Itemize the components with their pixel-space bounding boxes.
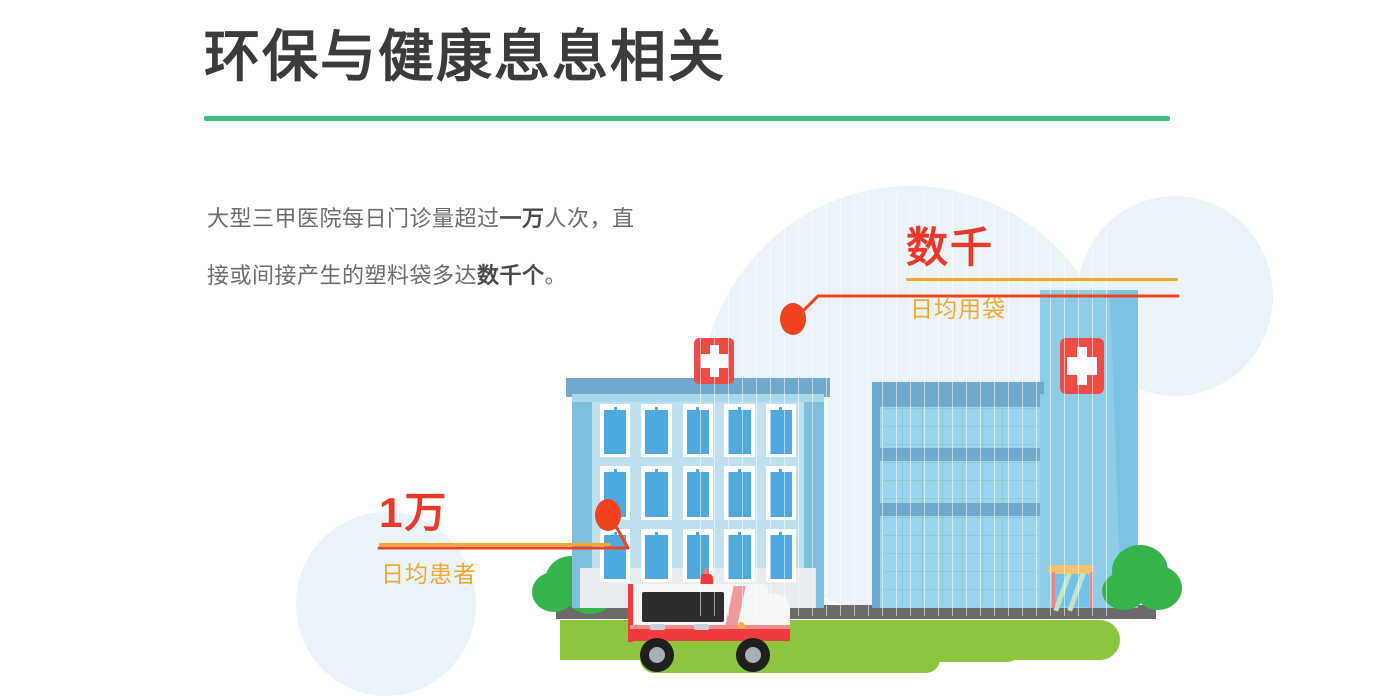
ambulance-door-handle [650,624,665,630]
window [641,466,671,519]
hospital-illustration [0,0,1400,700]
tower-canopy-post [1090,572,1093,608]
annex-glass-row [882,408,1038,448]
window [724,404,754,457]
red-cross-icon [1060,338,1104,394]
annex-floor-band [880,503,1040,516]
callout-value: 数千 [906,227,1178,269]
window [683,404,713,457]
ambulance-door-handle [694,624,709,630]
callout-value: 1万 [379,492,611,534]
annex-glass-row [882,517,1038,605]
window [724,466,754,519]
window [766,404,796,457]
ambulance-window [642,592,724,622]
window [600,404,630,457]
tower-canopy-post [1052,572,1055,608]
annex-glass-row [882,462,1038,503]
ambulance-wheel [736,638,770,672]
red-cross-icon [694,338,734,384]
callout-daily-bags: 数千 日均用袋 [906,227,1178,324]
callout-rule [906,278,1178,281]
callout-daily-patients: 1万 日均患者 [379,492,611,589]
bush-right [1102,572,1146,610]
ambulance-indicator [738,622,745,629]
window [766,466,796,519]
window-grid [600,404,796,582]
infographic-canvas: 环保与健康息息相关 大型三甲医院每日门诊量超过一万人次，直接或间接产生的塑料袋多… [0,0,1400,700]
window [683,466,713,519]
grass-accent-b [820,636,1020,662]
annex-floor-band [880,448,1040,461]
annex-roof-band [880,393,1040,407]
hospital-roof-lip [572,394,824,402]
ambulance-wheel [640,638,674,672]
callout-caption: 日均用袋 [906,290,1178,324]
callout-caption: 日均患者 [379,555,611,589]
window [641,404,671,457]
callout-rule [379,543,611,546]
ambulance [620,566,800,676]
